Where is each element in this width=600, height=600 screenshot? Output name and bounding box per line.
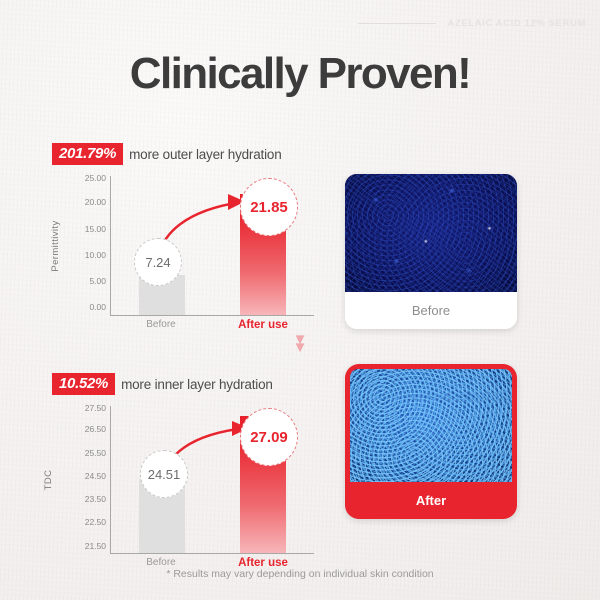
promo-stage: AZELAIC ACID 12% SERUM Clinically Proven… [0, 0, 600, 600]
badge-percent-outer: 201.79% [52, 143, 123, 165]
chart2-y-ticks: 27.50 26.50 25.50 24.50 23.50 22.50 21.5… [70, 406, 106, 554]
claim-row-outer-hydration: 201.79% more outer layer hydration [52, 143, 282, 165]
chart1-ytick: 5.00 [89, 277, 106, 286]
chart1-ytick: 20.00 [85, 198, 106, 207]
chart1-value-after: 21.85 [240, 178, 298, 236]
photo-card-before: Before [345, 174, 517, 329]
claim-text-inner: more inner layer hydration [121, 377, 273, 392]
chart1-ytick: 25.00 [85, 174, 106, 183]
chart2-ytick: 22.50 [85, 518, 106, 527]
chart1-y-ticks: 25.00 20.00 15.00 10.00 5.00 0.00 [70, 176, 106, 316]
chart2-ytick: 26.50 [85, 425, 106, 434]
chart2-value-before: 24.51 [140, 450, 188, 498]
chart1-ytick: 10.00 [85, 251, 106, 260]
disclaimer-text: * Results may vary depending on individu… [0, 568, 600, 580]
chart2-value-after: 27.09 [240, 408, 298, 466]
badge-percent-inner: 10.52% [52, 373, 115, 395]
page-title: Clinically Proven! [0, 52, 600, 96]
chart2-ytick: 24.50 [85, 472, 106, 481]
skin-image-after [350, 369, 512, 482]
chart1-y-axis-title: Permittivity [50, 220, 61, 271]
chart2-ytick: 23.50 [85, 495, 106, 504]
chart1-ytick: 0.00 [89, 303, 106, 312]
header-divider [358, 23, 436, 24]
chart1-value-before: 7.24 [134, 238, 182, 286]
header: AZELAIC ACID 12% SERUM [358, 18, 586, 29]
chart1-ytick: 15.00 [85, 224, 106, 233]
claim-row-inner-hydration: 10.52% more inner layer hydration [52, 373, 273, 395]
chevron-double-down-icon: ▼ ▼ [0, 336, 600, 353]
skin-image-before [345, 174, 517, 292]
chart1-xlabel-after: After use [212, 319, 314, 331]
chart2-y-axis-title: TDC [43, 470, 54, 491]
chart2-ytick: 25.50 [85, 448, 106, 457]
chart2-ytick: 27.50 [85, 404, 106, 413]
chart1-x-labels: Before After use [110, 319, 314, 331]
chart2-ytick: 21.50 [85, 541, 106, 550]
claim-text-outer: more outer layer hydration [129, 147, 281, 162]
product-name-label: AZELAIC ACID 12% SERUM [448, 18, 586, 29]
chevron-down-bottom: ▼ [0, 344, 600, 352]
photo-caption-after: After [350, 482, 512, 519]
photo-card-after: After [345, 364, 517, 519]
photo-caption-before: Before [345, 292, 517, 329]
chart1-xlabel-before: Before [110, 319, 212, 331]
